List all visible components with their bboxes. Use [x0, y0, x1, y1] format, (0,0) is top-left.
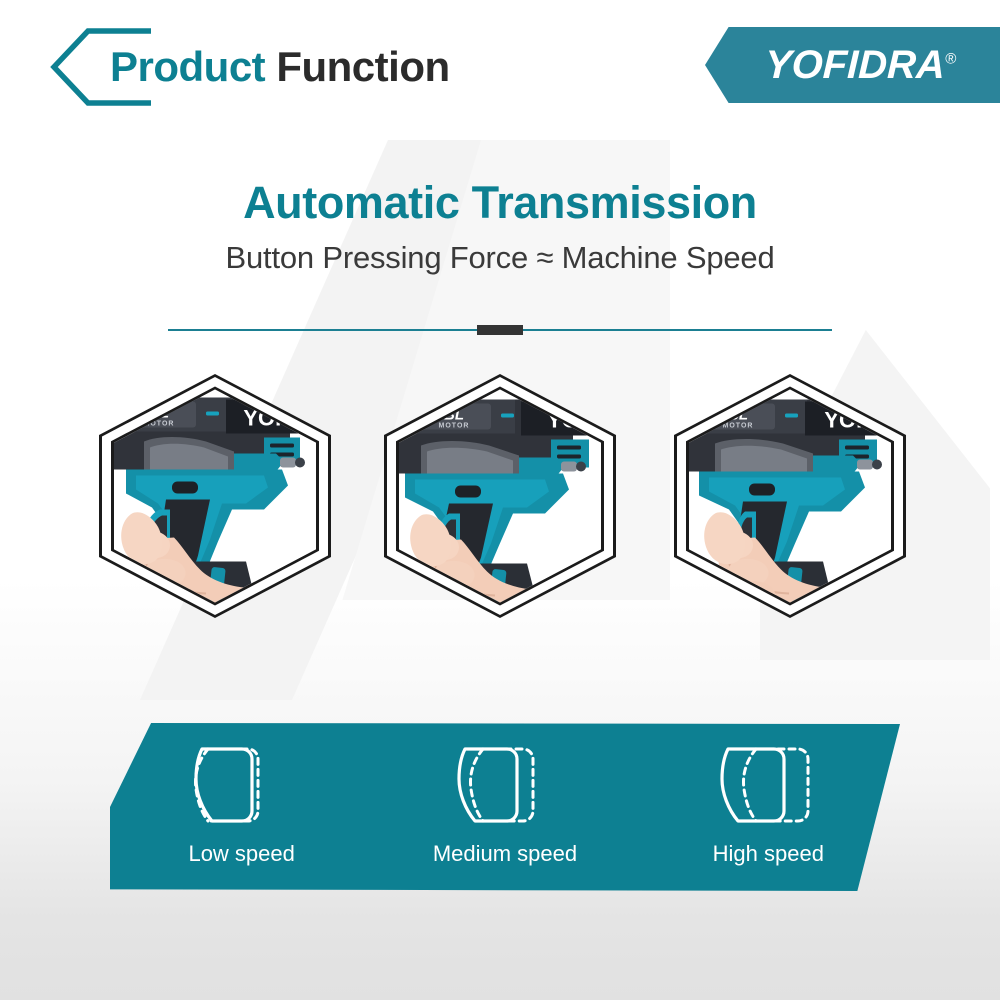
speed-item-medium: Medium speed [373, 723, 636, 891]
trigger-high-icon [712, 741, 824, 833]
hero-title: Automatic Transmission [0, 175, 1000, 231]
brand-name: YOFIDRA [764, 43, 946, 87]
hero-subtitle: Button Pressing Force ≈ Machine Speed [0, 236, 1000, 280]
speed-comparison-banner: Low speed Medium speed High speed [110, 723, 900, 891]
page-title-accent: Product [110, 43, 265, 90]
showcase-hexagon-low: BL MOTOR YOF [90, 372, 340, 620]
speed-label-high: High speed [713, 841, 824, 867]
registered-trademark-icon: ® [945, 50, 957, 67]
page-title-dark: Function [276, 43, 449, 90]
divider-knob [477, 325, 523, 335]
product-showcase-row: BL MOTOR YOF [0, 372, 1000, 622]
speed-label-medium: Medium speed [433, 841, 577, 867]
showcase-hexagon-high: BL MOTOR YOF [665, 372, 915, 620]
showcase-hexagon-medium: BL MOTOR YO [375, 372, 625, 620]
speed-item-low: Low speed [110, 723, 373, 891]
svg-text:MOTOR: MOTOR [723, 423, 754, 430]
speed-items-list: Low speed Medium speed High speed [110, 723, 900, 891]
trigger-low-icon [186, 741, 298, 833]
brand-wordmark: YOFIDRA® [764, 43, 957, 88]
hero-section: Automatic Transmission Button Pressing F… [0, 175, 1000, 280]
section-divider [168, 325, 832, 335]
trigger-medium-icon [449, 741, 561, 833]
brand-logo-badge: YOFIDRA® [705, 27, 1000, 103]
page-header: Product Function YOFIDRA® [0, 0, 1000, 130]
product-function-infographic: Product Function YOFIDRA® Automatic Tran… [0, 0, 1000, 1000]
page-title: Product Function [110, 36, 450, 98]
svg-text:MOTOR: MOTOR [439, 423, 470, 430]
speed-label-low: Low speed [188, 841, 294, 867]
speed-item-high: High speed [637, 723, 900, 891]
